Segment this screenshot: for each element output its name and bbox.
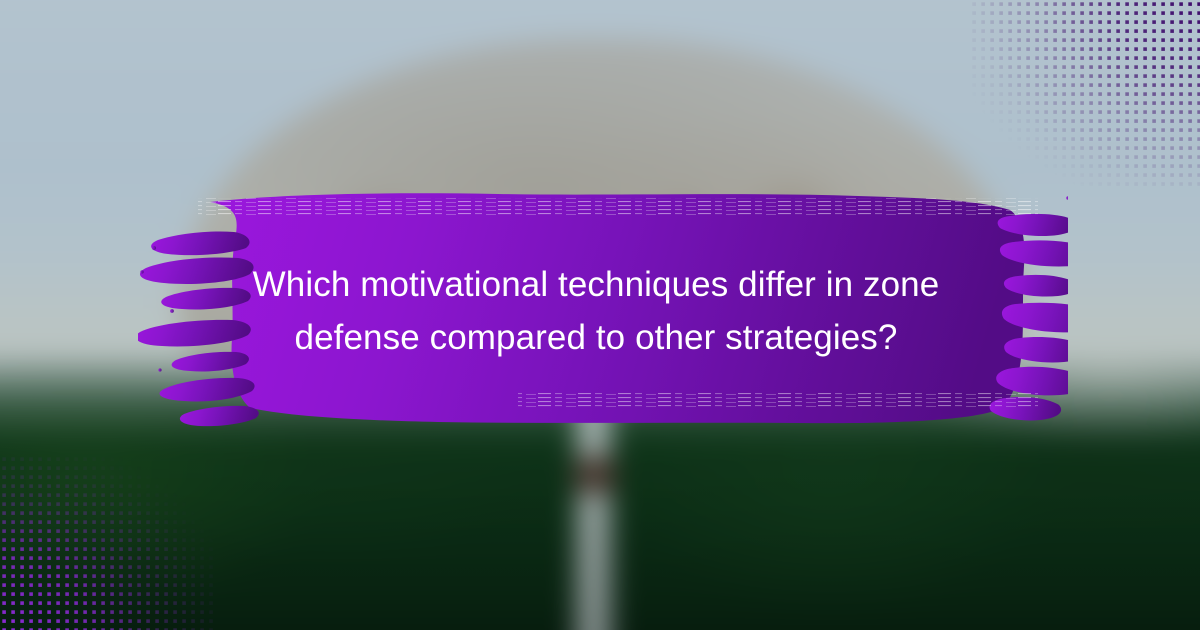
headline-banner: Which motivational techniques differ in … <box>138 180 1068 442</box>
question-card: Which motivational techniques differ in … <box>0 0 1200 630</box>
page-title: Which motivational techniques differ in … <box>210 258 982 364</box>
